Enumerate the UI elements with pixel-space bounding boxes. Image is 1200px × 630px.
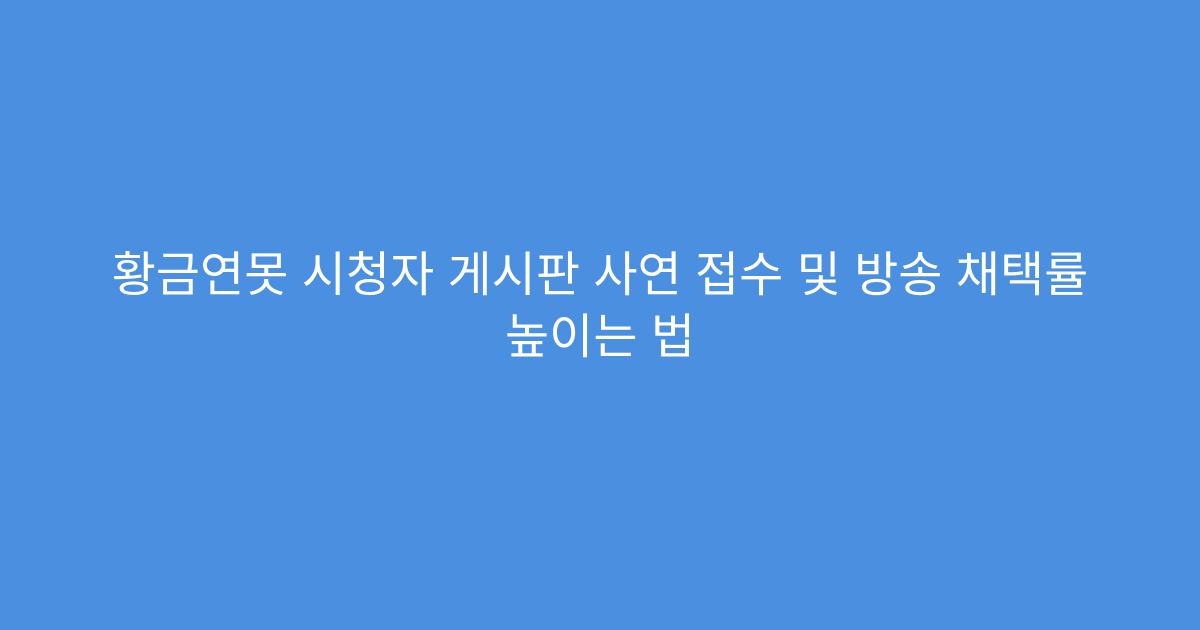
title-block: 황금연못 시청자 게시판 사연 접수 및 방송 채택률 높이는 법 [70, 245, 1130, 385]
social-share-card: 황금연못 시청자 게시판 사연 접수 및 방송 채택률 높이는 법 [0, 0, 1200, 630]
card-title: 황금연못 시청자 게시판 사연 접수 및 방송 채택률 높이는 법 [70, 245, 1130, 369]
